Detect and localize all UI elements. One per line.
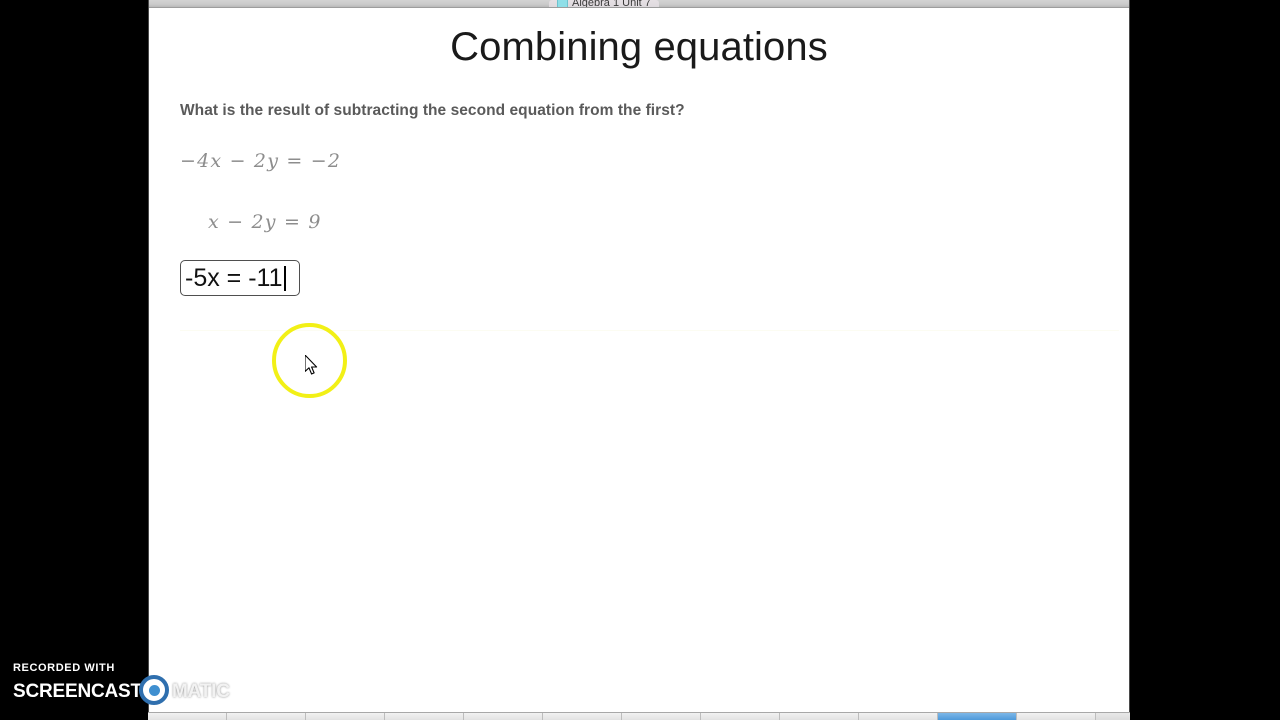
horizontal-divider xyxy=(180,330,1119,331)
watermark-recorded-with: RECORDED WITH xyxy=(13,662,115,674)
watermark-panel: RECORDED WITH SCREENCAST xyxy=(0,656,148,712)
taskbar-item[interactable] xyxy=(1017,713,1096,720)
taskbar-item[interactable] xyxy=(780,713,859,720)
screencast-o-matic-logo-icon xyxy=(139,675,169,705)
taskbar-item[interactable] xyxy=(227,713,306,720)
answer-input-value: -5x = -11 xyxy=(185,266,283,291)
taskbar-item-active[interactable] xyxy=(938,713,1017,720)
taskbar-item[interactable] xyxy=(385,713,464,720)
equation-second: x − 2y = 9 xyxy=(208,211,322,233)
equation-first: −4x − 2y = −2 xyxy=(180,150,341,172)
video-letterbox: Algebra 1 Unit 7 Combining equations Wha… xyxy=(0,0,1280,720)
tab-title: Algebra 1 Unit 7 xyxy=(572,0,651,7)
taskbar-item[interactable] xyxy=(148,713,227,720)
browser-tabstrip: Algebra 1 Unit 7 xyxy=(149,0,1129,7)
taskbar-item[interactable] xyxy=(701,713,780,720)
logo-inner-dot xyxy=(149,685,160,696)
tab-favicon-icon xyxy=(557,0,568,7)
watermark-screencast: SCREENCAST xyxy=(13,681,142,703)
answer-input[interactable]: -5x = -11 xyxy=(180,260,300,296)
os-taskbar[interactable] xyxy=(148,712,1130,720)
text-caret xyxy=(284,266,286,291)
recorded-browser-window: Algebra 1 Unit 7 Combining equations Wha… xyxy=(148,0,1130,712)
page-title: Combining equations xyxy=(149,25,1129,69)
taskbar-item[interactable] xyxy=(859,713,938,720)
taskbar-item[interactable] xyxy=(306,713,385,720)
taskbar-item[interactable] xyxy=(464,713,543,720)
taskbar-item[interactable] xyxy=(622,713,701,720)
watermark-matic: MATIC xyxy=(172,681,230,703)
browser-tab[interactable]: Algebra 1 Unit 7 xyxy=(549,0,659,7)
slide-content: Combining equations What is the result o… xyxy=(149,8,1129,712)
question-prompt: What is the result of subtracting the se… xyxy=(180,102,685,120)
taskbar-item[interactable] xyxy=(543,713,622,720)
